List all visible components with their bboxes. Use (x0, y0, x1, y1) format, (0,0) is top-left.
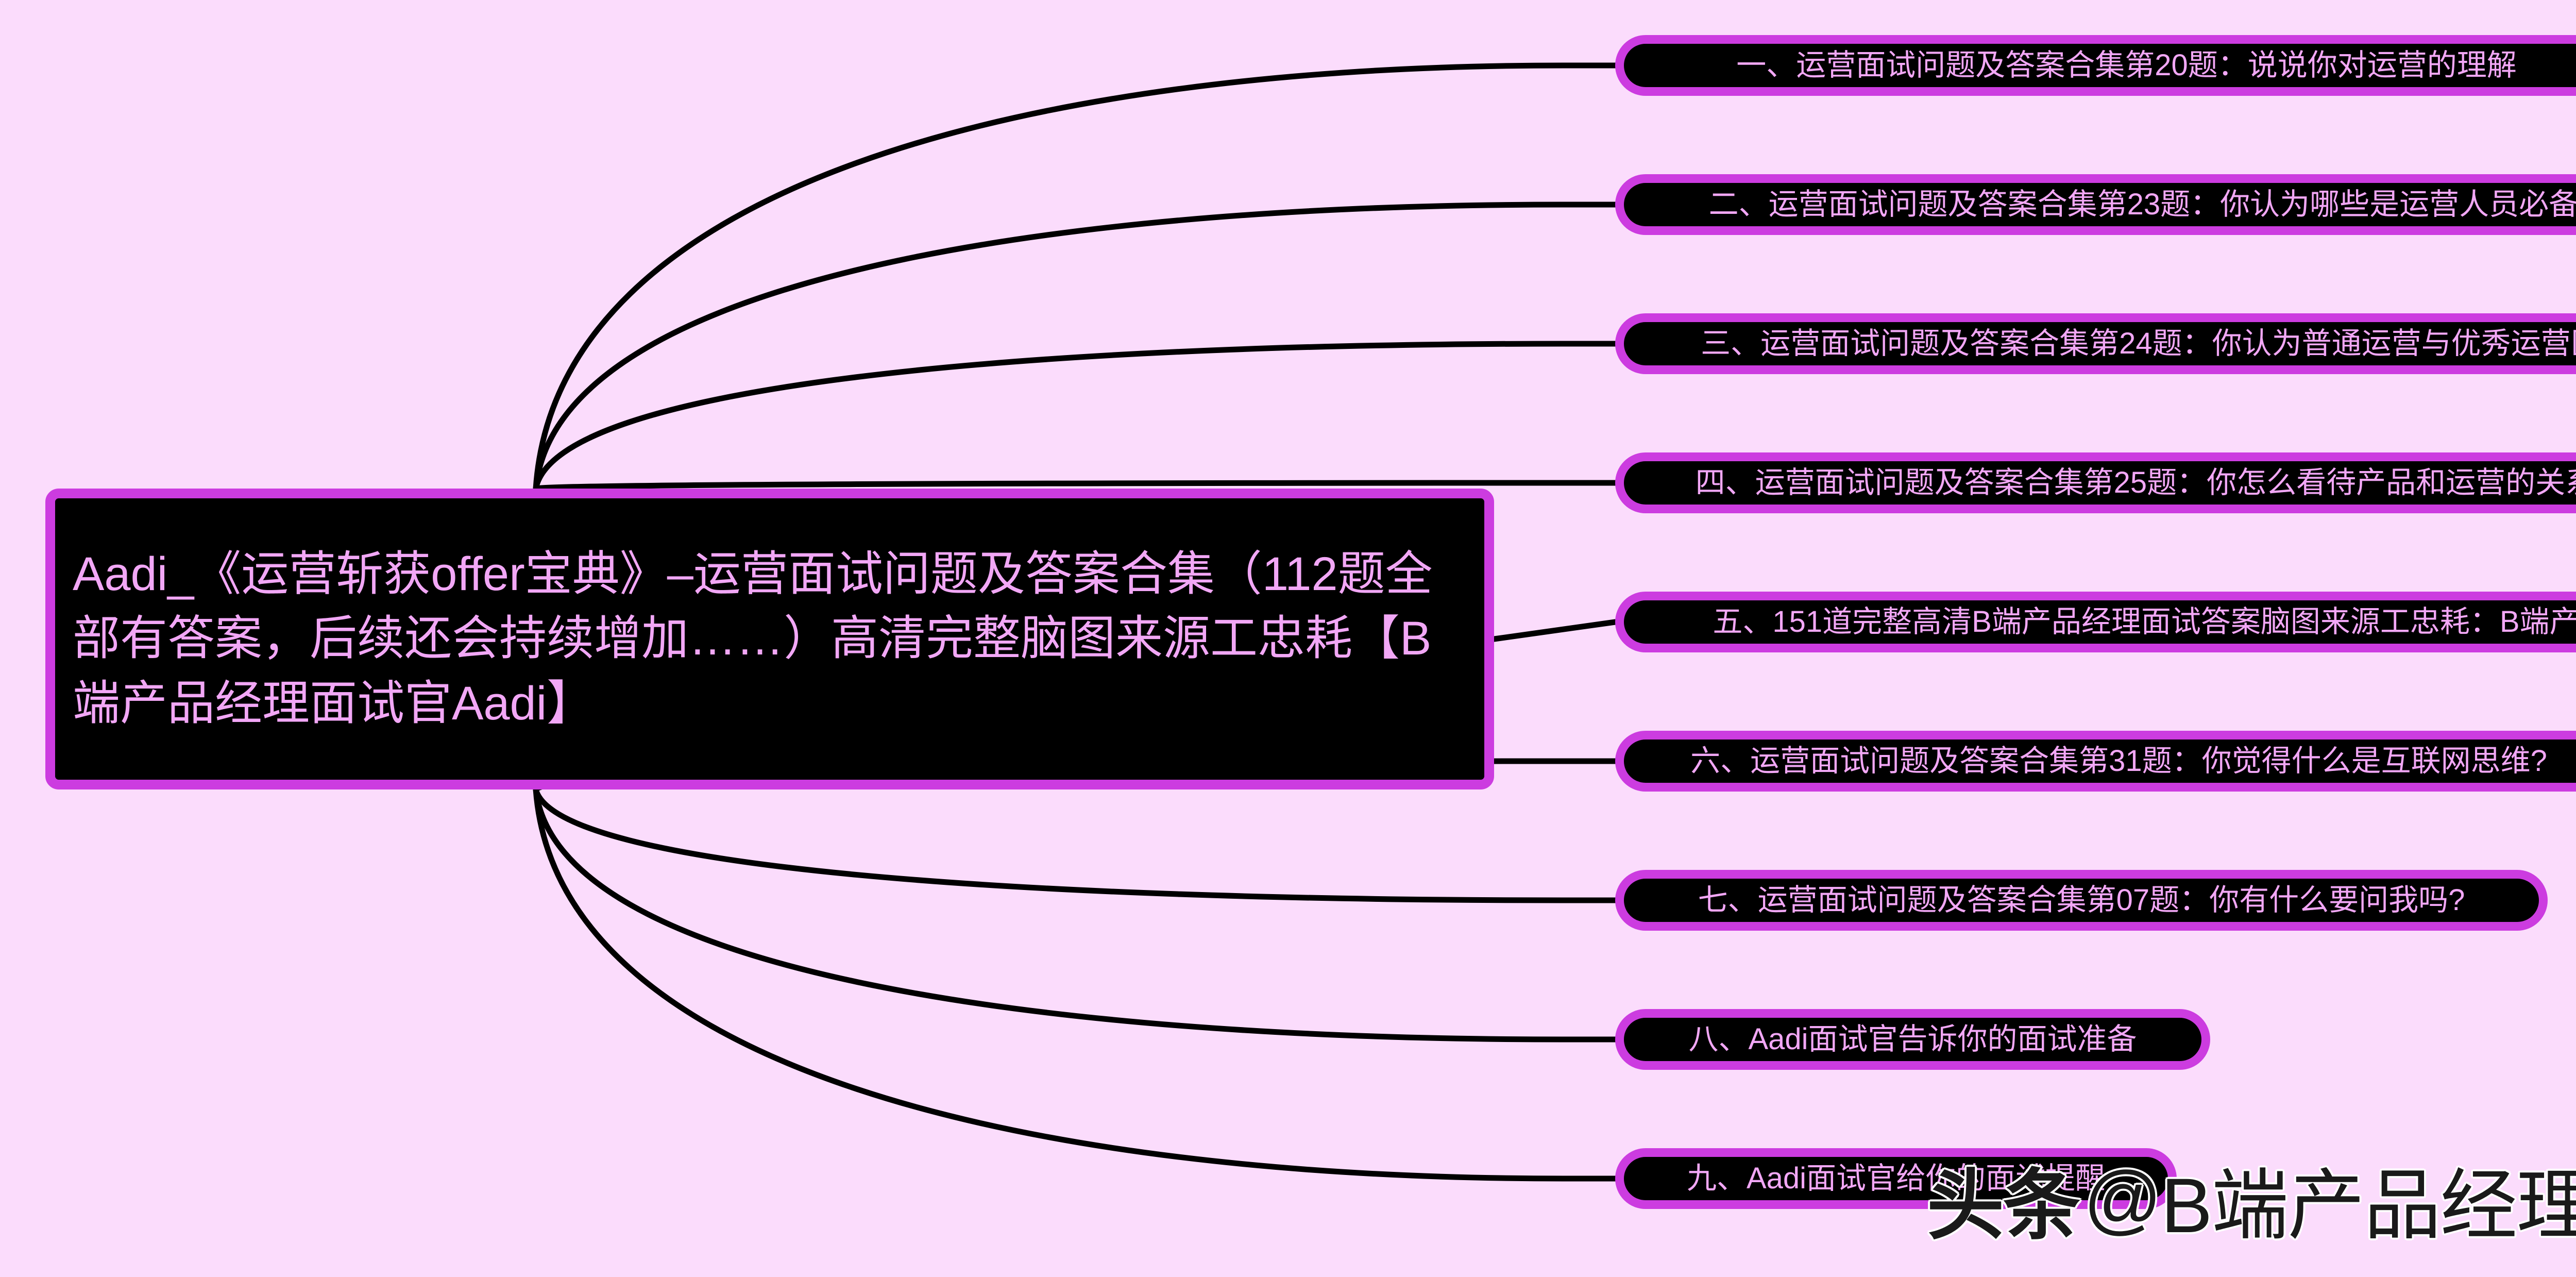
connector-to-branch-7 (536, 789, 1615, 900)
branch-node-4[interactable]: 四、运营面试问题及答案合集第25题：你怎么看待产品和运营的关系? (1615, 452, 2576, 513)
branch-node-7[interactable]: 七、运营面试问题及答案合集第07题：你有什么要问我吗? (1615, 870, 2548, 931)
branch-node-2[interactable]: 二、运营面试问题及答案合集第23题：你认为哪些是运营人员必备能力? (1615, 174, 2576, 235)
connector-to-branch-1 (536, 65, 1615, 489)
branch-node-3[interactable]: 三、运营面试问题及答案合集第24题：你认为普通运营与优秀运营区别在哪? (1615, 313, 2576, 374)
branch-node-label: 一、运营面试问题及答案合集第20题：说说你对运营的理解 (1736, 49, 2517, 82)
connector-to-branch-2 (536, 205, 1615, 489)
root-node[interactable]: Aadi_《运营斩获offer宝典》–运营面试问题及答案合集（112题全部有答案… (45, 489, 1494, 789)
branch-node-label: 四、运营面试问题及答案合集第25题：你怎么看待产品和运营的关系? (1696, 466, 2576, 499)
branch-node-5[interactable]: 五、151道完整高清B端产品经理面试答案脑图来源工忠耗：B端产品经理面试官Aad… (1615, 592, 2576, 652)
connector-to-branch-8 (536, 789, 1615, 1039)
watermark-handle: B端产品经理面试问题 (2161, 1143, 2576, 1255)
connector-to-branch-4 (536, 483, 1615, 489)
toutiao-logo-text: 头条 (1927, 1143, 2079, 1255)
branch-node-label: 八、Aadi面试官告诉你的面试准备 (1688, 1023, 2137, 1056)
branch-node-label: 三、运营面试问题及答案合集第24题：你认为普通运营与优秀运营区别在哪? (1701, 327, 2576, 360)
branch-node-label: 二、运营面试问题及答案合集第23题：你认为哪些是运营人员必备能力? (1709, 188, 2576, 221)
root-node-label: Aadi_《运营斩获offer宝典》–运营面试问题及答案合集（112题全部有答案… (73, 542, 1467, 735)
at-symbol: @ (2083, 1154, 2161, 1244)
connector-to-branch-3 (536, 344, 1615, 489)
branch-node-label: 五、151道完整高清B端产品经理面试答案脑图来源工忠耗：B端产品经理面试官Aad… (1713, 606, 2576, 639)
platform-watermark: 头条 @ B端产品经理面试问题 (1927, 1143, 2576, 1255)
mindmap-canvas: Aadi_《运营斩获offer宝典》–运营面试问题及答案合集（112题全部有答案… (0, 0, 2576, 1277)
branch-node-label: 七、运营面试问题及答案合集第07题：你有什么要问我吗? (1698, 884, 2465, 917)
connector-to-branch-9 (536, 789, 1615, 1179)
connector-to-branch-5 (1494, 622, 1615, 639)
branch-node-1[interactable]: 一、运营面试问题及答案合集第20题：说说你对运营的理解 (1615, 35, 2576, 96)
branch-node-6[interactable]: 六、运营面试问题及答案合集第31题：你觉得什么是互联网思维? (1615, 731, 2576, 792)
branch-node-8[interactable]: 八、Aadi面试官告诉你的面试准备 (1615, 1009, 2210, 1070)
branch-node-label: 六、运营面试问题及答案合集第31题：你觉得什么是互联网思维? (1690, 745, 2547, 778)
